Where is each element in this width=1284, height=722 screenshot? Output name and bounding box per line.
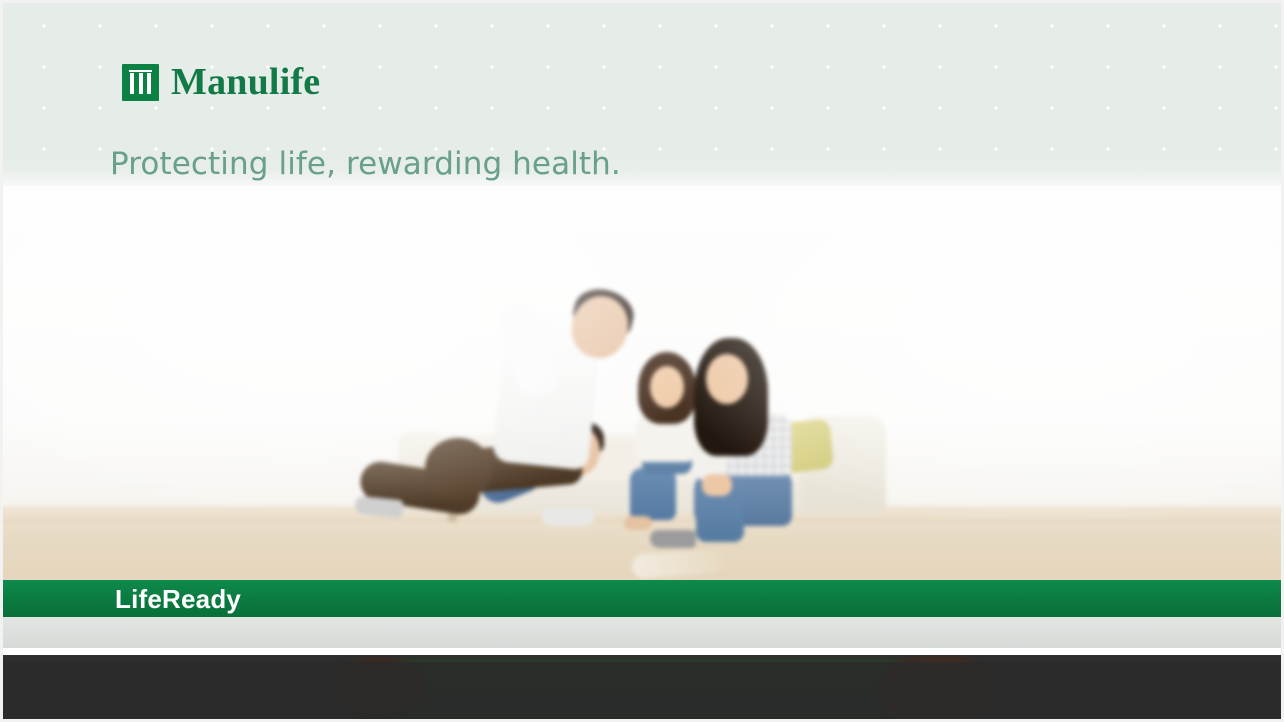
scene-contents [0,186,1284,580]
manulife-columns-mark-icon [122,64,159,101]
controls-background [0,655,1284,722]
video-scene [0,186,1284,580]
father-knee [425,438,491,498]
mother-hand [702,474,732,496]
brand-logo: Manulife [122,60,320,104]
father-shoe-right [542,508,594,526]
player-controls[interactable]: HD [0,648,1284,722]
girl-legs [630,468,676,520]
video-stage[interactable]: Manulife Protecting life, rewarding heal… [0,0,1284,655]
girl-foot [624,516,652,530]
video-player[interactable]: Manulife Protecting life, rewarding heal… [0,0,1284,722]
controls-scrim [0,662,1284,722]
brand-tagline: Protecting life, rewarding health. [110,146,621,182]
brand-name: Manulife [171,63,320,101]
mother-face [706,354,748,404]
lifeready-title: LifeReady [115,585,241,613]
mother-shoe [650,530,696,548]
girl-face [650,366,684,408]
banner-bottom-strip [0,617,1284,648]
